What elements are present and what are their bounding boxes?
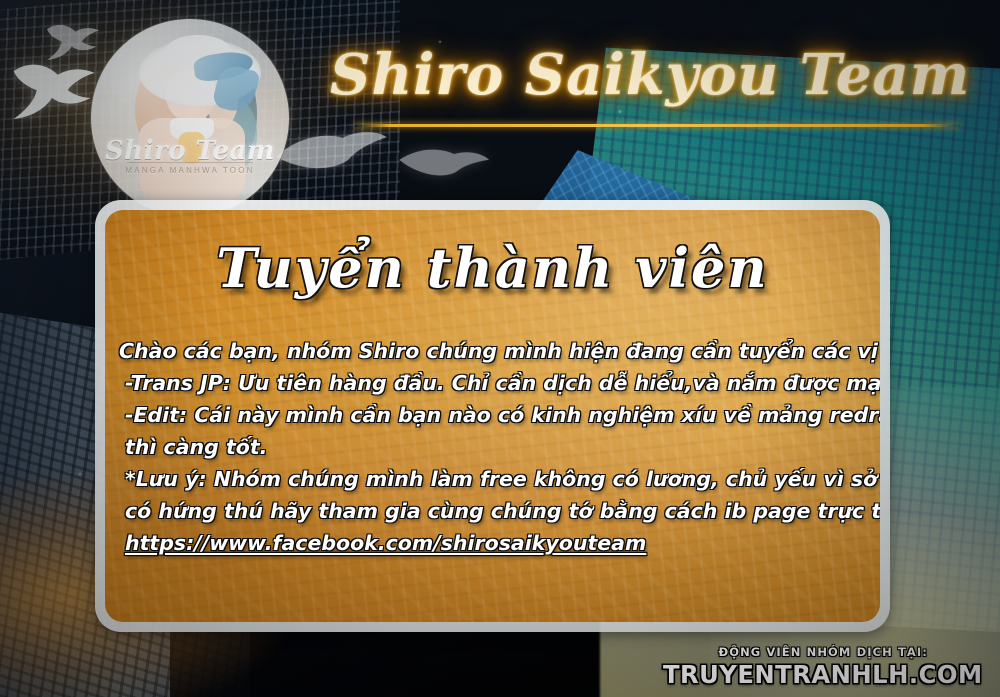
recruitment-text-line: Chào các bạn, nhóm Shiro chúng mình hiện… xyxy=(119,335,866,367)
recruitment-headline: Tuyển thành viên xyxy=(105,230,880,306)
recruitment-text-line: có hứng thú hãy tham gia cùng chúng tớ b… xyxy=(119,495,866,527)
recruitment-text-line: -Trans JP: Ưu tiên hàng đầu. Chỉ cần dịc… xyxy=(119,367,866,399)
recruitment-text-line: *Lưu ý: Nhóm chúng mình làm free không c… xyxy=(119,463,866,495)
recruitment-body: Chào các bạn, nhóm Shiro chúng mình hiện… xyxy=(119,335,866,559)
page-title: Shiro Saikyou Team xyxy=(330,42,970,108)
recruitment-text-line: -Edit: Cái này mình cần bạn nào có kinh … xyxy=(119,399,866,431)
recruitment-text-line: thì càng tốt. xyxy=(119,431,866,463)
facebook-page-link[interactable]: https://www.facebook.com/shirosaikyoutea… xyxy=(119,527,866,559)
recruitment-panel: Tuyển thành viên Chào các bạn, nhóm Shir… xyxy=(95,200,890,632)
site-credit: ĐỘNG VIÊN NHÓM DỊCH TẠI: TRUYENTRANHLH.C… xyxy=(658,644,988,689)
logo-subtitle-text: MANGA MANHWA TOON xyxy=(91,166,289,175)
logo-divider xyxy=(127,162,254,163)
dove-icon xyxy=(394,135,493,192)
recruitment-panel-content: Tuyển thành viên Chào các bạn, nhóm Shir… xyxy=(105,210,880,622)
logo-brand-text: Shiro Team xyxy=(91,138,289,164)
credit-site-name: TRUYENTRANHLH.COM xyxy=(663,660,983,689)
banner-title-block: Shiro Saikyou Team xyxy=(330,42,970,132)
logo-haze-overlay xyxy=(91,19,289,217)
team-logo: Shiro Team MANGA MANHWA TOON xyxy=(90,18,290,218)
recruitment-panel-inner: Tuyển thành viên Chào các bạn, nhóm Shir… xyxy=(105,210,880,622)
recruitment-banner: Shiro Team MANGA MANHWA TOON Shiro Saiky… xyxy=(0,0,1000,697)
credit-caption: ĐỘNG VIÊN NHÓM DỊCH TẠI: xyxy=(658,644,988,660)
title-underline xyxy=(354,124,960,127)
